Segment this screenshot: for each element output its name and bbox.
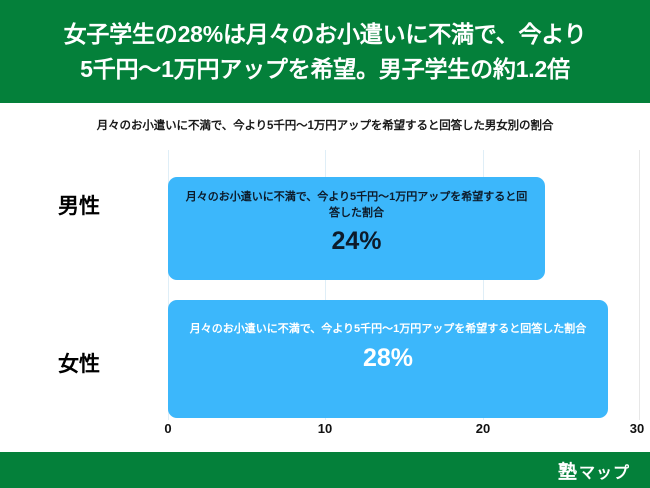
bar-row-female: 月々のお小遣いに不満で、今より5千円〜1万円アップを希望すると回答した割合 28… [168, 300, 640, 418]
bar-male-value: 24% [331, 228, 381, 256]
brand-logo[interactable]: 塾 マップ [558, 457, 630, 484]
x-tick-0: 0 [164, 421, 171, 436]
bar-row-male: 月々のお小遣いに不満で、今より5千円〜1万円アップを希望すると回答した割合 24… [168, 177, 640, 280]
x-tick-20: 20 [476, 421, 490, 436]
bar-chart: 男性 月々のお小遣いに不満で、今より5千円〜1万円アップを希望すると回答した割合… [0, 150, 650, 445]
footer-banner: 塾 マップ [0, 452, 650, 488]
infographic-page: 女子学生の28%は月々のお小遣いに不満で、今より 5千円〜1万円アップを希望。男… [0, 0, 650, 488]
bar-female-value: 28% [363, 345, 413, 373]
category-label-male: 男性 [0, 190, 158, 220]
x-tick-10: 10 [318, 421, 332, 436]
brand-logo-sub: マップ [579, 459, 630, 483]
bar-male[interactable]: 月々のお小遣いに不満で、今より5千円〜1万円アップを希望すると回答した割合 24… [168, 177, 545, 280]
category-label-female: 女性 [0, 348, 158, 378]
x-tick-30: 30 [630, 421, 644, 436]
bar-male-description: 月々のお小遣いに不満で、今より5千円〜1万円アップを希望すると回答した割合 [168, 190, 545, 222]
page-title: 女子学生の28%は月々のお小遣いに不満で、今より 5千円〜1万円アップを希望。男… [64, 17, 587, 85]
x-axis: 0 10 20 30 [0, 421, 650, 445]
bar-female[interactable]: 月々のお小遣いに不満で、今より5千円〜1万円アップを希望すると回答した割合 28… [168, 300, 608, 418]
header-banner: 女子学生の28%は月々のお小遣いに不満で、今より 5千円〜1万円アップを希望。男… [0, 0, 650, 103]
chart-subtitle: 月々のお小遣いに不満で、今より5千円〜1万円アップを希望すると回答した男女別の割… [0, 117, 650, 133]
bar-female-description: 月々のお小遣いに不満で、今より5千円〜1万円アップを希望すると回答した割合 [168, 322, 608, 338]
brand-logo-main: 塾 [558, 457, 577, 484]
